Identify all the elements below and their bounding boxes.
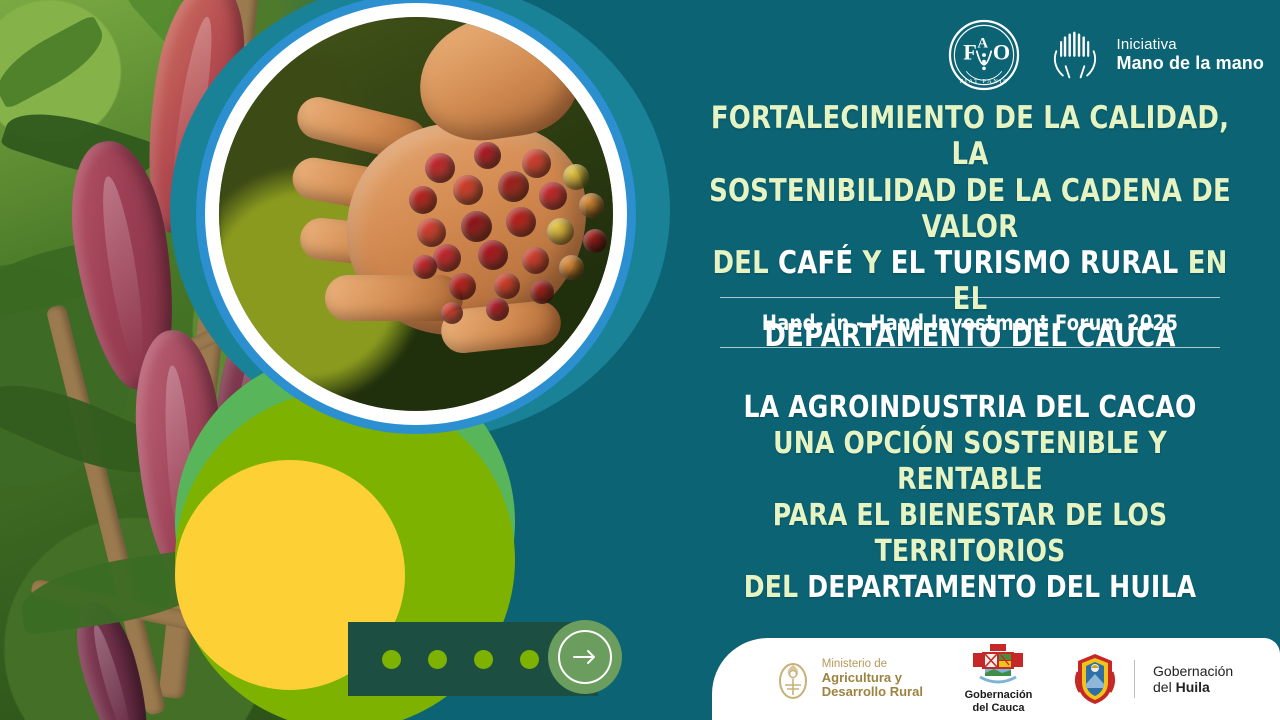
coffee-photo-white-ring xyxy=(205,3,627,425)
coffee-cherry xyxy=(547,218,574,245)
coffee-cherry xyxy=(579,193,604,218)
title2-line-3: PARA EL BIENESTAR DE LOS TERRITORIOS xyxy=(698,498,1241,570)
hih-line1: Iniciativa xyxy=(1116,37,1264,54)
divider-bottom xyxy=(720,347,1220,348)
title-line-1: FORTALECIMIENTO DE LA CALIDAD, LA xyxy=(698,100,1241,173)
ministerio-line2: Agricultura y xyxy=(822,671,923,686)
gobernacion-cauca-logo: Gobernación del Cauca xyxy=(965,643,1033,715)
secondary-title: LA AGROINDUSTRIA DEL CACAOUNA OPCIÓN SOS… xyxy=(678,390,1262,606)
slide-dot[interactable] xyxy=(520,650,539,669)
coffee-cherry xyxy=(449,273,476,300)
footer-logo-panel: Ministerio de Agricultura y Desarrollo R… xyxy=(712,638,1280,720)
title2-line-4: DEL DEPARTAMENTO DEL HUILA xyxy=(698,570,1241,606)
svg-text:FIAT PANIS: FIAT PANIS xyxy=(960,78,1009,85)
coffee-cherry xyxy=(413,255,437,279)
coffee-cherry xyxy=(559,255,584,280)
colombia-shield-icon xyxy=(773,655,813,703)
top-logos: F A O FIAT PANIS xyxy=(947,18,1264,92)
ministerio-line3: Desarrollo Rural xyxy=(822,685,923,700)
title-segment: Y xyxy=(853,245,890,281)
cauca-text: Gobernación del Cauca xyxy=(965,689,1033,715)
coffee-cherry xyxy=(530,280,554,304)
fao-logo: F A O FIAT PANIS xyxy=(947,18,1021,92)
coffee-cherry xyxy=(478,240,508,270)
svg-text:F: F xyxy=(964,39,978,64)
coffee-cherry xyxy=(409,186,437,214)
title2-line-1: LA AGROINDUSTRIA DEL CACAO xyxy=(698,390,1241,426)
slide-dots[interactable] xyxy=(382,650,539,669)
cauca-line1: Gobernación xyxy=(965,689,1033,702)
title-segment: LA AGROINDUSTRIA DEL CACAO xyxy=(743,390,1196,425)
next-slide-button[interactable] xyxy=(548,620,622,694)
ministerio-agricultura-logo: Ministerio de Agricultura y Desarrollo R… xyxy=(773,655,923,703)
title2-line-2: UNA OPCIÓN SOSTENIBLE Y RENTABLE xyxy=(698,426,1241,498)
hih-line2: Mano de la mano xyxy=(1116,53,1264,73)
hand-illustration xyxy=(274,25,613,403)
slide-dot[interactable] xyxy=(428,650,447,669)
coffee-cherry xyxy=(494,273,520,299)
title-segment: DEL xyxy=(712,245,778,281)
coffee-cherry xyxy=(498,171,529,202)
coffee-cherry xyxy=(425,153,455,183)
coffee-photo-ring xyxy=(196,0,636,434)
coffee-cherry xyxy=(417,218,446,247)
coffee-cherry xyxy=(486,298,509,321)
coffee-cherry xyxy=(522,149,551,178)
hands-wheat-icon xyxy=(1047,27,1103,83)
title-segment: DEL xyxy=(744,570,807,605)
cauca-line2: del Cauca xyxy=(965,702,1033,715)
title-segment: SOSTENIBILIDAD DE LA CADENA DE VALOR xyxy=(709,173,1231,245)
subtitle-text: Hand- in - Hand Investment Forum 2025 xyxy=(733,298,1208,347)
svg-text:O: O xyxy=(993,39,1010,64)
coffee-cherry xyxy=(522,247,549,274)
ministerio-text: Ministerio de Agricultura y Desarrollo R… xyxy=(822,658,923,700)
title-line-2: SOSTENIBILIDAD DE LA CADENA DE VALOR xyxy=(698,173,1241,246)
huila-divider xyxy=(1134,660,1135,698)
hand-in-hand-text: Iniciativa Mano de la mano xyxy=(1116,37,1264,74)
subtitle-block: Hand- in - Hand Investment Forum 2025 xyxy=(720,297,1220,348)
slide-content: F A O FIAT PANIS xyxy=(660,0,1280,720)
coffee-cherry xyxy=(506,207,536,237)
coffee-cherry xyxy=(461,211,492,242)
huila-line2-prefix: del xyxy=(1153,679,1176,695)
coffee-cherry xyxy=(583,229,607,253)
huila-text: Gobernación del Huila xyxy=(1153,663,1233,695)
title-segment: UNA OPCIÓN SOSTENIBLE Y RENTABLE xyxy=(773,426,1167,497)
title-segment: DEPARTAMENTO DEL HUILA xyxy=(807,570,1196,605)
coffee-cherries-photo xyxy=(219,17,613,411)
gobernacion-huila-logo: Gobernación del Huila xyxy=(1074,652,1233,706)
ministerio-line1: Ministerio de xyxy=(822,658,923,671)
huila-line2-bold: Huila xyxy=(1176,679,1210,695)
svg-text:A: A xyxy=(978,36,989,52)
title-segment: PARA EL BIENESTAR DE LOS TERRITORIOS xyxy=(773,498,1168,569)
cauca-coat-of-arms-icon xyxy=(972,643,1024,687)
slide-dot[interactable] xyxy=(474,650,493,669)
title-segment: CAFÉ xyxy=(778,245,853,281)
arrow-right-icon xyxy=(572,648,598,666)
coffee-cherry xyxy=(441,302,463,324)
title-segment: FORTALECIMIENTO DE LA CALIDAD, LA xyxy=(711,100,1229,172)
coffee-cherry xyxy=(474,142,501,169)
coffee-cherry xyxy=(563,164,589,190)
coffee-cherry xyxy=(433,244,461,272)
huila-coat-of-arms-icon xyxy=(1074,652,1116,706)
huila-line2: del Huila xyxy=(1153,679,1233,695)
arrow-ring xyxy=(558,630,612,684)
coffee-cherry xyxy=(453,175,483,205)
huila-line1: Gobernación xyxy=(1153,663,1233,679)
fao-emblem-icon: F A O FIAT PANIS xyxy=(947,18,1021,92)
presentation-slide: F A O FIAT PANIS xyxy=(0,0,1280,720)
slide-dot[interactable] xyxy=(382,650,401,669)
coffee-cherry xyxy=(539,182,567,210)
hand-in-hand-logo: Iniciativa Mano de la mano xyxy=(1047,27,1264,83)
coffee-cherries-cluster xyxy=(405,138,608,320)
title-segment: EL TURISMO RURAL xyxy=(891,245,1179,281)
